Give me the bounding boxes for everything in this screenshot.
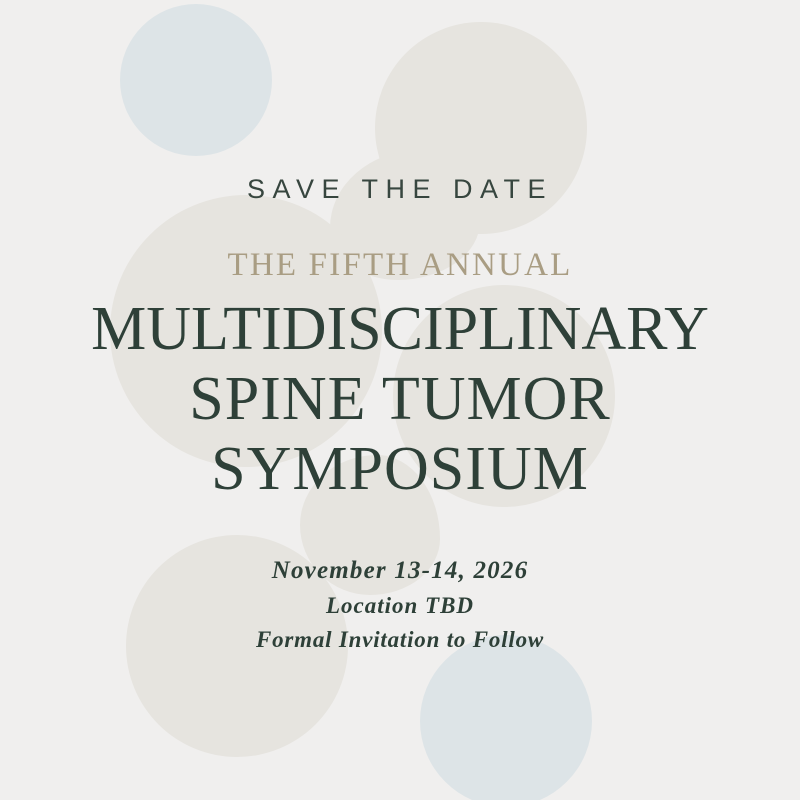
edition-kicker: THE FIFTH ANNUAL xyxy=(227,249,572,282)
poster-content: SAVE THE DATE THE FIFTH ANNUAL MULTIDISC… xyxy=(0,0,800,800)
event-title: MULTIDISCIPLINARY SPINE TUMOR SYMPOSIUM xyxy=(91,298,709,500)
save-the-date-eyebrow: SAVE THE DATE xyxy=(247,176,553,203)
event-date: November 13-14, 2026 xyxy=(256,552,544,589)
event-title-line-2: SPINE TUMOR xyxy=(91,368,709,430)
event-invitation-note: Formal Invitation to Follow xyxy=(256,623,544,657)
event-title-line-1: MULTIDISCIPLINARY xyxy=(91,298,709,360)
save-the-date-poster: SAVE THE DATE THE FIFTH ANNUAL MULTIDISC… xyxy=(0,0,800,800)
event-location: Location TBD xyxy=(256,589,544,623)
event-details: November 13-14, 2026 Location TBD Formal… xyxy=(256,552,544,657)
event-title-line-3: SYMPOSIUM xyxy=(91,438,709,500)
